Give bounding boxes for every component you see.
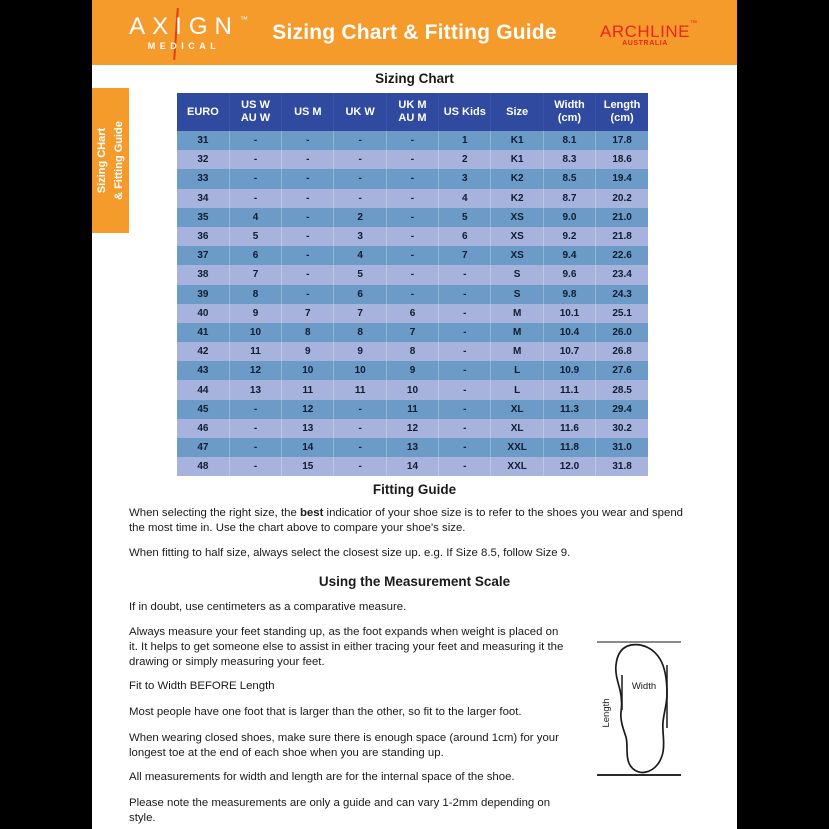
- table-cell: 9.4: [543, 246, 595, 265]
- table-cell: 37: [177, 246, 229, 265]
- measurement-paragraph-6: All measurements for width and length ar…: [129, 770, 569, 785]
- table-cell: 22.6: [596, 246, 648, 265]
- table-cell: 14: [282, 438, 334, 457]
- table-cell: -: [386, 131, 438, 150]
- table-cell: -: [439, 304, 491, 323]
- table-cell: 7: [229, 265, 281, 284]
- table-row: 365-3-6XS9.221.8: [177, 227, 648, 246]
- table-cell: -: [282, 227, 334, 246]
- table-cell: 33: [177, 169, 229, 188]
- table-cell: 9.0: [543, 208, 595, 227]
- archline-logo-wordmark: ARCHLINE: [595, 22, 695, 42]
- table-cell: 6: [439, 227, 491, 246]
- table-row: 409776-M10.125.1: [177, 304, 648, 323]
- table-cell: 21.8: [596, 227, 648, 246]
- table-cell: -: [229, 131, 281, 150]
- table-column-header: UK W: [334, 93, 386, 131]
- table-cell: 31: [177, 131, 229, 150]
- table-cell: -: [282, 208, 334, 227]
- table-cell: 41: [177, 323, 229, 342]
- table-cell: -: [439, 400, 491, 419]
- table-cell: 2: [334, 208, 386, 227]
- table-cell: -: [334, 457, 386, 476]
- table-row: 387-5--S9.623.4: [177, 265, 648, 284]
- table-cell: K2: [491, 169, 543, 188]
- table-cell: -: [386, 189, 438, 208]
- table-header-row: EUROUS WAU WUS MUK WUK MAU MUS KidsSizeW…: [177, 93, 648, 131]
- table-cell: -: [439, 457, 491, 476]
- table-cell: 4: [439, 189, 491, 208]
- table-cell: -: [334, 131, 386, 150]
- table-cell: 10.9: [543, 361, 595, 380]
- fitting-guide-paragraph-2: When fitting to half size, always select…: [129, 546, 699, 561]
- table-column-header: US M: [282, 93, 334, 131]
- table-cell: -: [229, 419, 281, 438]
- foot-measurement-diagram: Width Length: [595, 638, 685, 778]
- table-cell: -: [334, 169, 386, 188]
- table-cell: S: [491, 285, 543, 304]
- table-cell: 15: [282, 457, 334, 476]
- measurement-paragraph-5: When wearing closed shoes, make sure the…: [129, 731, 569, 761]
- table-cell: XS: [491, 227, 543, 246]
- measurement-paragraph-1: If in doubt, use centimeters as a compar…: [129, 600, 569, 615]
- table-cell: 9: [334, 342, 386, 361]
- side-tab-label: Sizing CHart & Fitting Guide: [92, 88, 129, 233]
- table-column-header: EURO: [177, 93, 229, 131]
- table-row: 48-15-14-XXL12.031.8: [177, 457, 648, 476]
- table-row: 354-2-5XS9.021.0: [177, 208, 648, 227]
- table-row: 31----1K18.117.8: [177, 131, 648, 150]
- table-cell: 8: [334, 323, 386, 342]
- table-cell: 46: [177, 419, 229, 438]
- table-cell: 12: [282, 400, 334, 419]
- table-cell: -: [282, 131, 334, 150]
- table-cell: 4: [334, 246, 386, 265]
- table-cell: -: [282, 285, 334, 304]
- table-cell: -: [229, 457, 281, 476]
- table-row: 34----4K28.720.2: [177, 189, 648, 208]
- table-cell: 7: [386, 323, 438, 342]
- table-cell: -: [386, 265, 438, 284]
- table-cell: 28.5: [596, 380, 648, 399]
- table-cell: 3: [334, 227, 386, 246]
- table-cell: 47: [177, 438, 229, 457]
- table-cell: 12.0: [543, 457, 595, 476]
- table-cell: 19.4: [596, 169, 648, 188]
- table-cell: 36: [177, 227, 229, 246]
- table-cell: 34: [177, 189, 229, 208]
- table-cell: -: [334, 419, 386, 438]
- table-row: 4413111110-L11.128.5: [177, 380, 648, 399]
- table-column-header-sub: (cm): [544, 112, 595, 125]
- table-cell: 3: [439, 169, 491, 188]
- table-cell: 30.2: [596, 419, 648, 438]
- table-cell: 40: [177, 304, 229, 323]
- table-cell: 8.3: [543, 150, 595, 169]
- document-page: AXIGN ™ MEDICAL Sizing Chart & Fitting G…: [92, 0, 737, 829]
- table-cell: 10: [229, 323, 281, 342]
- table-cell: -: [229, 189, 281, 208]
- table-cell: 8: [282, 323, 334, 342]
- table-cell: 9.6: [543, 265, 595, 284]
- table-cell: 31.8: [596, 457, 648, 476]
- table-column-header-main: US M: [294, 106, 322, 118]
- table-cell: XXL: [491, 438, 543, 457]
- table-column-header: Width(cm): [543, 93, 595, 131]
- table-cell: -: [229, 169, 281, 188]
- table-column-header-sub: AU M: [387, 112, 438, 125]
- table-cell: M: [491, 304, 543, 323]
- table-cell: 5: [334, 265, 386, 284]
- measurement-scale-heading: Using the Measurement Scale: [92, 574, 737, 589]
- table-row: 376-4-7XS9.422.6: [177, 246, 648, 265]
- table-cell: 11.6: [543, 419, 595, 438]
- table-row: 4110887-M10.426.0: [177, 323, 648, 342]
- table-cell: 10: [386, 380, 438, 399]
- table-cell: 48: [177, 457, 229, 476]
- measurement-paragraph-4: Most people have one foot that is larger…: [129, 705, 569, 720]
- table-cell: 11.3: [543, 400, 595, 419]
- table-cell: XXL: [491, 457, 543, 476]
- table-cell: -: [386, 169, 438, 188]
- table-column-header-main: UK W: [345, 106, 374, 118]
- table-cell: 2: [439, 150, 491, 169]
- table-row: 33----3K28.519.4: [177, 169, 648, 188]
- table-cell: 14: [386, 457, 438, 476]
- side-tab-sizing-chart[interactable]: Sizing CHart & Fitting Guide: [92, 88, 129, 233]
- table-cell: 11: [334, 380, 386, 399]
- table-cell: K1: [491, 131, 543, 150]
- table-cell: 13: [229, 380, 281, 399]
- table-cell: 10: [282, 361, 334, 380]
- foot-length-label: Length: [601, 698, 612, 727]
- table-cell: 13: [386, 438, 438, 457]
- table-cell: M: [491, 323, 543, 342]
- table-column-header-main: Size: [506, 106, 528, 118]
- foot-width-label: Width: [632, 681, 656, 692]
- table-cell: 43: [177, 361, 229, 380]
- archline-trademark-symbol: ™: [690, 20, 697, 27]
- fitting-guide-heading: Fitting Guide: [92, 482, 737, 497]
- table-cell: -: [282, 150, 334, 169]
- table-row: 398-6--S9.824.3: [177, 285, 648, 304]
- table-cell: -: [334, 438, 386, 457]
- page-header-band: AXIGN ™ MEDICAL Sizing Chart & Fitting G…: [92, 0, 737, 65]
- table-cell: 8: [386, 342, 438, 361]
- table-row: 32----2K18.318.6: [177, 150, 648, 169]
- measurement-paragraph-2: Always measure your feet standing up, as…: [129, 625, 569, 670]
- table-column-header-main: EURO: [187, 106, 219, 118]
- table-cell: XL: [491, 419, 543, 438]
- table-cell: -: [439, 285, 491, 304]
- table-cell: -: [439, 265, 491, 284]
- sizing-chart-heading: Sizing Chart: [92, 71, 737, 86]
- table-cell: M: [491, 342, 543, 361]
- table-column-header-main: Width: [554, 99, 584, 111]
- table-cell: -: [439, 342, 491, 361]
- table-cell: 23.4: [596, 265, 648, 284]
- fitting-guide-paragraph-1: When selecting the right size, the best …: [129, 506, 699, 536]
- table-cell: -: [439, 419, 491, 438]
- table-cell: 31.0: [596, 438, 648, 457]
- table-cell: 11.1: [543, 380, 595, 399]
- table-cell: -: [439, 361, 491, 380]
- table-cell: 6: [229, 246, 281, 265]
- table-cell: 39: [177, 285, 229, 304]
- table-cell: 8.1: [543, 131, 595, 150]
- table-column-header: Length(cm): [596, 93, 648, 131]
- foot-outline-path: [616, 645, 667, 773]
- table-cell: -: [386, 246, 438, 265]
- measurement-paragraph-3: Fit to Width BEFORE Length: [129, 679, 569, 694]
- table-cell: 5: [229, 227, 281, 246]
- table-cell: L: [491, 361, 543, 380]
- table-cell: -: [439, 380, 491, 399]
- table-row: 431210109-L10.927.6: [177, 361, 648, 380]
- table-cell: 9.2: [543, 227, 595, 246]
- table-column-header: US Kids: [439, 93, 491, 131]
- table-cell: 24.3: [596, 285, 648, 304]
- table-cell: 10.1: [543, 304, 595, 323]
- table-cell: 27.6: [596, 361, 648, 380]
- table-column-header: UK MAU M: [386, 93, 438, 131]
- table-cell: 9: [229, 304, 281, 323]
- table-cell: 12: [386, 419, 438, 438]
- table-cell: 10.4: [543, 323, 595, 342]
- table-cell: -: [334, 189, 386, 208]
- table-header: EUROUS WAU WUS MUK WUK MAU MUS KidsSizeW…: [177, 93, 648, 131]
- table-cell: 32: [177, 150, 229, 169]
- table-cell: -: [386, 285, 438, 304]
- table-cell: 12: [229, 361, 281, 380]
- table-cell: -: [386, 227, 438, 246]
- table-cell: 20.2: [596, 189, 648, 208]
- table-cell: 7: [282, 304, 334, 323]
- table-cell: 18.6: [596, 150, 648, 169]
- table-cell: 42: [177, 342, 229, 361]
- side-tab-label-line2: & Fitting Guide: [111, 88, 128, 233]
- fg-p1-before: When selecting the right size, the: [129, 507, 300, 519]
- fg-p1-bold: best: [300, 507, 323, 519]
- table-cell: 8.7: [543, 189, 595, 208]
- table-cell: -: [229, 438, 281, 457]
- table-cell: 26.8: [596, 342, 648, 361]
- side-tab-label-line1: Sizing CHart: [94, 88, 111, 233]
- table-cell: L: [491, 380, 543, 399]
- archline-australia-logo: ARCHLINE ™ AUSTRALIA: [595, 22, 695, 54]
- table-cell: -: [229, 400, 281, 419]
- table-cell: 7: [334, 304, 386, 323]
- table-cell: 25.1: [596, 304, 648, 323]
- table-column-header: Size: [491, 93, 543, 131]
- table-cell: -: [439, 438, 491, 457]
- table-cell: XS: [491, 246, 543, 265]
- table-cell: 1: [439, 131, 491, 150]
- sizing-chart-table-wrapper: EUROUS WAU WUS MUK WUK MAU MUS KidsSizeW…: [177, 93, 648, 476]
- table-cell: 26.0: [596, 323, 648, 342]
- table-cell: 35: [177, 208, 229, 227]
- table-cell: -: [386, 150, 438, 169]
- table-cell: 9: [282, 342, 334, 361]
- table-column-header: US WAU W: [229, 93, 281, 131]
- table-cell: 38: [177, 265, 229, 284]
- table-cell: 45: [177, 400, 229, 419]
- table-column-header-sub: (cm): [596, 112, 648, 125]
- table-row: 46-13-12-XL11.630.2: [177, 419, 648, 438]
- table-cell: -: [334, 400, 386, 419]
- table-column-header-main: US Kids: [444, 106, 486, 118]
- table-cell: 6: [334, 285, 386, 304]
- table-cell: 10.7: [543, 342, 595, 361]
- table-cell: -: [282, 189, 334, 208]
- table-row: 45-12-11-XL11.329.4: [177, 400, 648, 419]
- table-cell: K2: [491, 189, 543, 208]
- table-cell: -: [282, 169, 334, 188]
- table-cell: 11: [386, 400, 438, 419]
- table-column-header-main: Length: [604, 99, 641, 111]
- table-cell: -: [439, 323, 491, 342]
- table-cell: 11: [282, 380, 334, 399]
- table-body: 31----1K18.117.832----2K18.318.633----3K…: [177, 131, 648, 476]
- table-cell: -: [229, 150, 281, 169]
- sizing-chart-table: EUROUS WAU WUS MUK WUK MAU MUS KidsSizeW…: [177, 93, 648, 476]
- table-row: 4211998-M10.726.8: [177, 342, 648, 361]
- table-cell: 8: [229, 285, 281, 304]
- table-column-header-main: US W: [241, 99, 270, 111]
- table-cell: 4: [229, 208, 281, 227]
- table-cell: S: [491, 265, 543, 284]
- table-cell: XS: [491, 208, 543, 227]
- table-cell: 9.8: [543, 285, 595, 304]
- table-cell: -: [386, 208, 438, 227]
- table-cell: -: [282, 265, 334, 284]
- table-cell: 11: [229, 342, 281, 361]
- table-cell: K1: [491, 150, 543, 169]
- table-cell: 6: [386, 304, 438, 323]
- table-cell: -: [282, 246, 334, 265]
- table-cell: 9: [386, 361, 438, 380]
- table-cell: 29.4: [596, 400, 648, 419]
- table-cell: 5: [439, 208, 491, 227]
- table-cell: 11.8: [543, 438, 595, 457]
- table-cell: 13: [282, 419, 334, 438]
- table-cell: 21.0: [596, 208, 648, 227]
- table-cell: 44: [177, 380, 229, 399]
- archline-logo-tagline: AUSTRALIA: [595, 40, 695, 47]
- table-column-header-main: UK M: [398, 99, 426, 111]
- foot-outline-svg: Width Length: [595, 638, 685, 778]
- table-cell: 8.5: [543, 169, 595, 188]
- table-cell: -: [334, 150, 386, 169]
- table-column-header-sub: AU W: [230, 112, 281, 125]
- measurement-paragraph-7: Please note the measurements are only a …: [129, 796, 569, 826]
- table-cell: 10: [334, 361, 386, 380]
- table-cell: 17.8: [596, 131, 648, 150]
- table-cell: 7: [439, 246, 491, 265]
- table-cell: XL: [491, 400, 543, 419]
- table-row: 47-14-13-XXL11.831.0: [177, 438, 648, 457]
